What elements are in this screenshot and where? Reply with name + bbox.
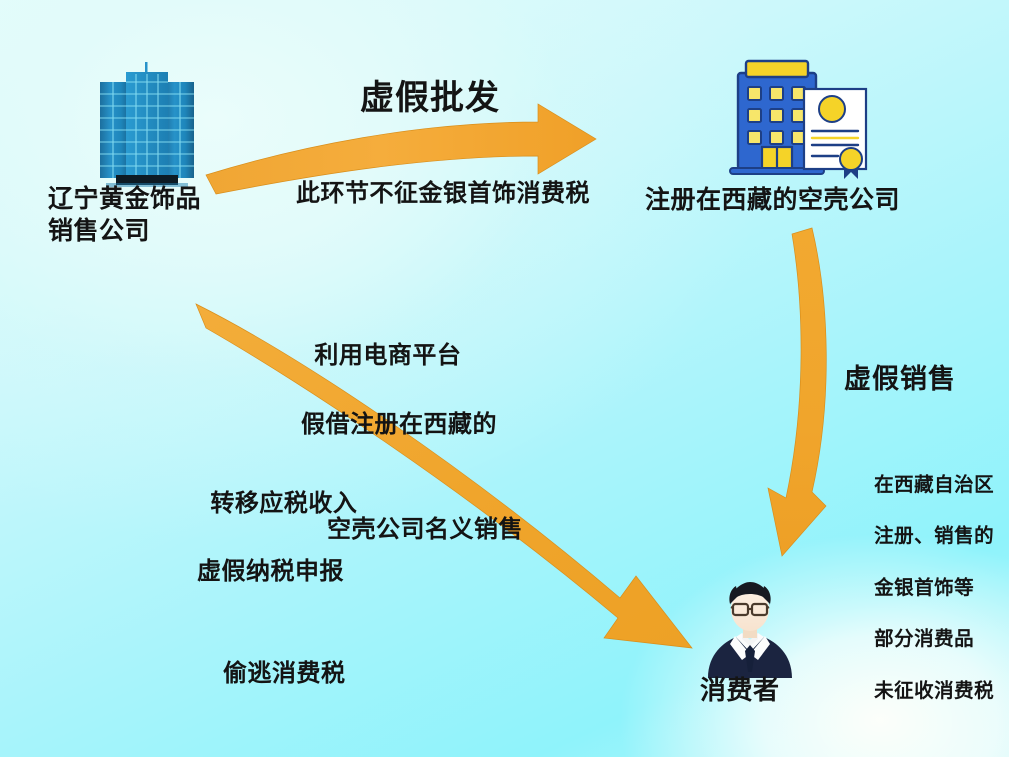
node-label-shell-company: 注册在西藏的空壳公司 [645, 185, 900, 215]
flow-note-tibet-no-tax: 在西藏自治区 注册、销售的 金银首饰等 部分消费品 未征收消费税 [845, 446, 994, 729]
building-with-certificate-icon [730, 61, 866, 179]
curved-arrow-down-icon [768, 228, 826, 556]
consumer-person-icon [708, 582, 792, 678]
diagram-canvas: 辽宁黄金饰品 销售公司 虚假批发 此环节不征金银首饰消费税 注册在西藏的空壳公司… [0, 0, 1009, 757]
note-line: 利用电商平台 [314, 341, 461, 369]
note-line: 部分消费品 [874, 627, 974, 650]
node-label-supplier: 辽宁黄金饰品 销售公司 [48, 183, 201, 247]
flow-title-false-sales: 虚假销售 [844, 364, 956, 396]
note-line: 金银首饰等 [874, 576, 974, 599]
flow-note-no-consumption-tax: 此环节不征金银首饰消费税 [296, 179, 590, 207]
office-building-icon [100, 62, 194, 187]
note-line: 在西藏自治区 [874, 473, 994, 496]
note-line: 转移应税收入 [210, 489, 357, 517]
note-line: 未征收消费税 [874, 679, 994, 702]
note-line: 偷逃消费税 [175, 656, 462, 690]
flow-note-tax-evasion-list: 转移应税收入 虚假纳税申报 偷逃消费税 增值税、企业所得税 [175, 452, 462, 757]
note-line: 虚假纳税申报 [175, 554, 462, 588]
note-line: 假借注册在西藏的 [279, 407, 523, 442]
node-label-consumer: 消费者 [700, 676, 780, 707]
note-line: 注册、销售的 [874, 524, 994, 547]
flow-title-false-wholesale: 虚假批发 [360, 78, 500, 118]
